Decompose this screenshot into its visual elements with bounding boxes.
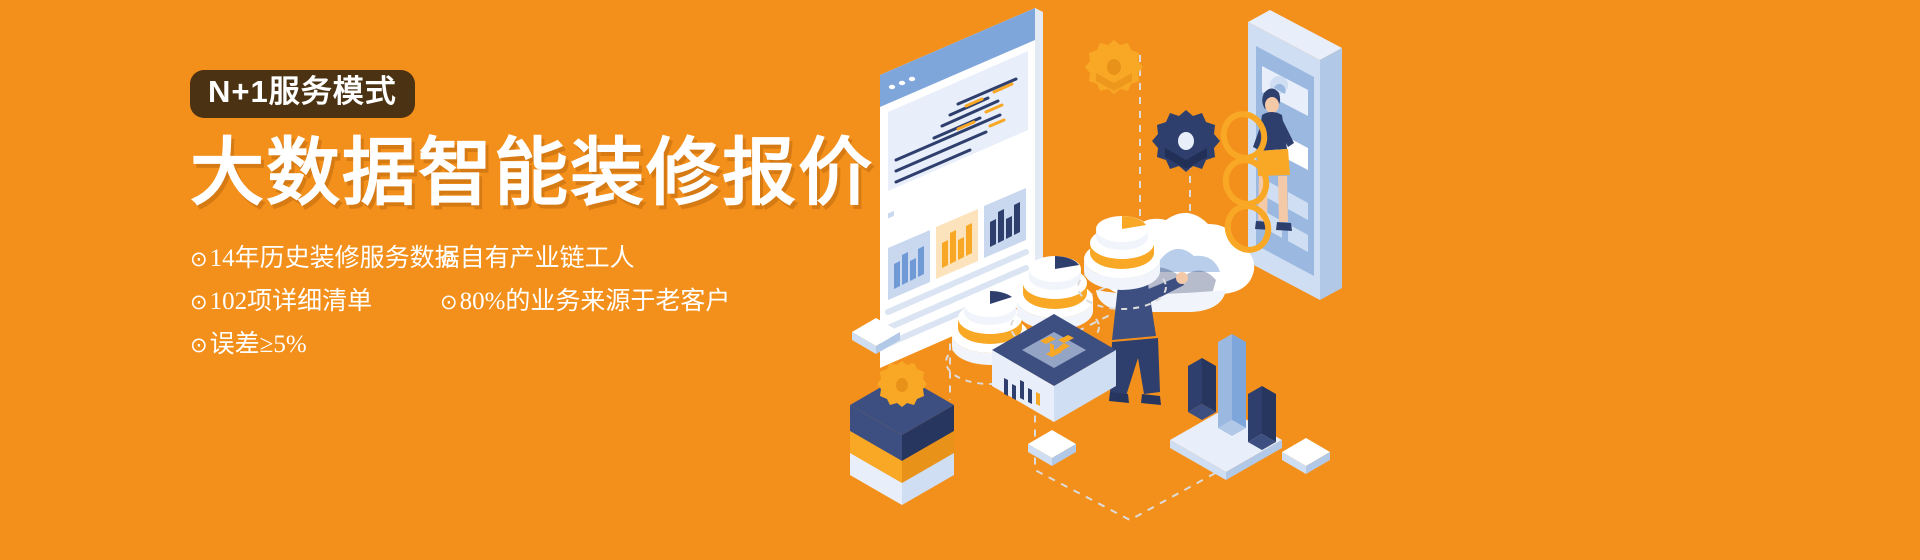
bullet-marker-icon: ⊙ xyxy=(190,327,208,363)
list-item: ⊙ 自有产业链工人 xyxy=(440,237,720,280)
list-item-label: 80%的业务来源于老客户 xyxy=(460,280,731,323)
bar-chart-blocks xyxy=(1170,334,1282,480)
bullet-marker-icon: ⊙ xyxy=(440,241,458,277)
list-item: ⊙ 误差≥5% xyxy=(190,323,440,366)
list-item-label: 14年历史装修服务数据 xyxy=(210,237,460,280)
list-item: ⊙ 80%的业务来源于老客户 xyxy=(440,280,720,323)
database-stack xyxy=(850,361,954,505)
bullet-marker-icon: ⊙ xyxy=(190,241,208,277)
bullet-marker-icon: ⊙ xyxy=(190,284,208,320)
list-item-label: 误差≥5% xyxy=(210,323,307,366)
page-title: 大数据智能装修报价 xyxy=(190,134,870,212)
gear-yellow-icon xyxy=(1085,40,1143,94)
promo-banner: N+1服务模式 大数据智能装修报价 ⊙ 14年历史装修服务数据 ⊙ 自有产业链工… xyxy=(0,0,1920,560)
list-item-label: 自有产业链工人 xyxy=(460,237,635,280)
feature-bullet-list: ⊙ 14年历史装修服务数据 ⊙ 自有产业链工人 ⊙ 102项详细清单 ⊙ 80%… xyxy=(190,237,720,366)
list-item-label: 102项详细清单 xyxy=(210,280,373,323)
service-model-badge: N+1服务模式 xyxy=(190,70,415,118)
bullet-marker-icon: ⊙ xyxy=(440,284,458,320)
copy-block: N+1服务模式 大数据智能装修报价 ⊙ 14年历史装修服务数据 ⊙ 自有产业链工… xyxy=(190,70,870,366)
rings xyxy=(1218,109,1274,255)
list-item: ⊙ 14年历史装修服务数据 xyxy=(190,237,440,280)
gear-navy-icon xyxy=(1152,110,1220,172)
isometric-illustration xyxy=(830,0,1390,560)
list-item: ⊙ 102项详细清单 xyxy=(190,280,440,323)
